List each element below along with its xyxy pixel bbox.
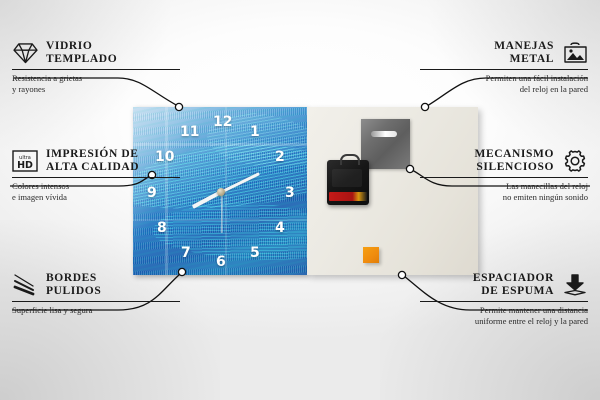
- feature-heading: ESPACIADOR DE ESPUMA: [420, 272, 588, 298]
- clock-numeral-2: 2: [275, 150, 285, 164]
- ultra-hd-icon: ultra HD: [12, 148, 38, 174]
- clock-numeral-3: 3: [285, 186, 295, 200]
- feature-bordes-pulidos: BORDES PULIDOS Superficie lisa y segura: [12, 272, 180, 316]
- feature-vidrio-templado: VIDRIO TEMPLADO Resistencia a grietas y …: [12, 40, 180, 95]
- polished-edges-icon: [12, 272, 38, 298]
- picture-hanger-icon: [562, 40, 588, 66]
- clock-minute-hand: [220, 172, 259, 193]
- feature-title: IMPRESIÓN DE ALTA CALIDAD: [46, 148, 139, 174]
- feature-heading: MANEJAS METAL: [420, 40, 588, 66]
- foam-spacer-pad: [363, 247, 379, 263]
- feature-title: BORDES PULIDOS: [46, 272, 101, 298]
- feature-divider: [12, 69, 180, 70]
- diamond-icon: [12, 40, 38, 66]
- feature-divider: [420, 177, 588, 178]
- feature-mecanismo-silencioso: MECANISMO SILENCIOSO Las manecillas del …: [420, 148, 588, 203]
- feature-heading: VIDRIO TEMPLADO: [12, 40, 180, 66]
- feature-title: ESPACIADOR DE ESPUMA: [473, 272, 554, 298]
- foam-spacer-arrow-icon: [562, 272, 588, 298]
- clock-numeral-8: 8: [157, 221, 167, 235]
- feature-espaciador-espuma: ESPACIADOR DE ESPUMA Permite mantener un…: [420, 272, 588, 327]
- feature-heading: ultra HD IMPRESIÓN DE ALTA CALIDAD: [12, 148, 180, 174]
- clock-center-cap: [217, 188, 225, 196]
- clock-numeral-1: 1: [250, 125, 260, 139]
- feature-heading: BORDES PULIDOS: [12, 272, 180, 298]
- feature-divider: [420, 69, 588, 70]
- battery-compartment: [329, 192, 367, 201]
- feature-heading: MECANISMO SILENCIOSO: [420, 148, 588, 174]
- feature-title: MANEJAS METAL: [494, 40, 554, 66]
- feature-description: Colores intensos e imagen vívida: [12, 181, 180, 203]
- feature-manejas-metal: MANEJAS METAL Permiten una fácil instala…: [420, 40, 588, 95]
- clock-numeral-5: 5: [250, 246, 260, 260]
- feature-divider: [12, 177, 180, 178]
- clock-numeral-12: 12: [213, 115, 232, 129]
- feature-impresion-alta-calidad: ultra HD IMPRESIÓN DE ALTA CALIDAD Color…: [12, 148, 180, 203]
- feature-description: Resistencia a grietas y rayones: [12, 73, 180, 95]
- face-grid-line: [133, 143, 307, 146]
- movement-housing-detail: [332, 169, 362, 187]
- feature-description: Las manecillas del reloj no emiten ningú…: [420, 181, 588, 203]
- quartz-movement: [327, 160, 369, 205]
- infographic-canvas: 12 1 2 3 4 5 6 7 8 9 10 11: [0, 0, 600, 400]
- feature-description: Superficie lisa y segura: [12, 305, 180, 316]
- feature-divider: [12, 301, 180, 302]
- feature-description: Permiten una fácil instalación del reloj…: [420, 73, 588, 95]
- hanger-slot: [371, 131, 397, 137]
- gear-icon: [562, 148, 588, 174]
- clock-numeral-6: 6: [216, 255, 226, 269]
- clock-numeral-7: 7: [181, 246, 191, 260]
- clock-numeral-11: 11: [180, 125, 199, 139]
- svg-text:HD: HD: [17, 160, 33, 171]
- feature-divider: [420, 301, 588, 302]
- feature-title: MECANISMO SILENCIOSO: [474, 148, 554, 174]
- clock-numeral-4: 4: [275, 221, 285, 235]
- feature-title: VIDRIO TEMPLADO: [46, 40, 117, 66]
- clock-second-hand: [221, 192, 222, 233]
- feature-description: Permite mantener una distancia uniforme …: [420, 305, 588, 327]
- movement-hanger-loop: [340, 154, 360, 165]
